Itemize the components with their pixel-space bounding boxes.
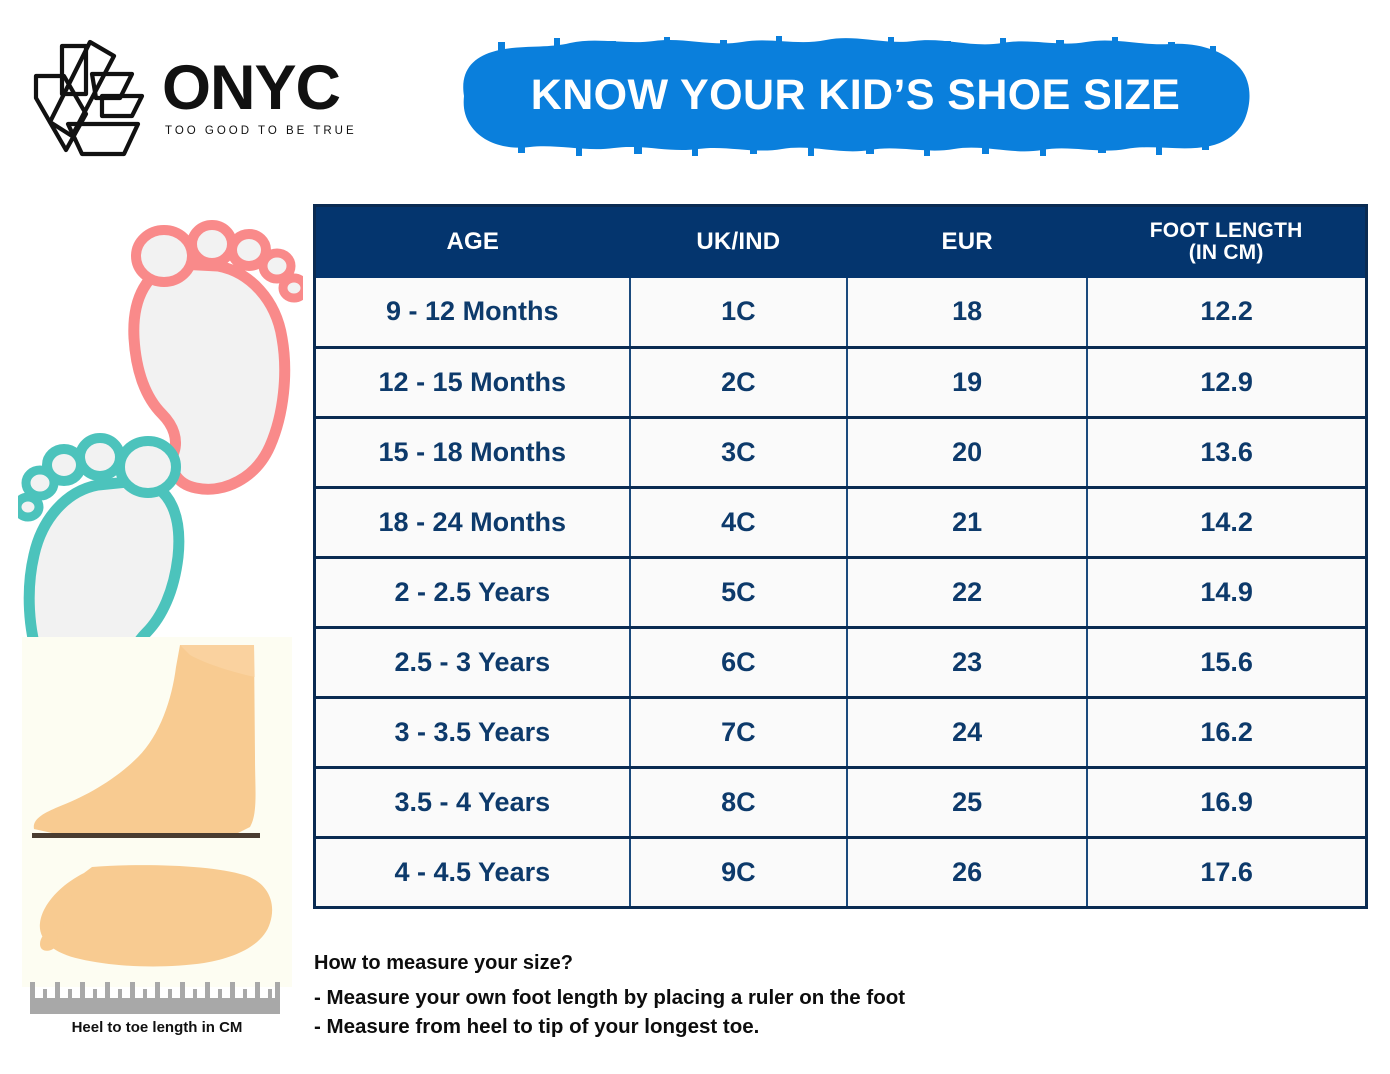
teal-footprint-icon	[18, 438, 179, 637]
cell-foot-length: 17.6	[1087, 838, 1366, 908]
table-row: 9 - 12 Months 1C 18 12.2	[315, 278, 1367, 348]
cell-eur: 19	[847, 348, 1087, 418]
cell-uk-ind: 6C	[630, 628, 847, 698]
brand-logo: ONYC TOO GOOD TO BE TRUE	[28, 28, 368, 168]
table-row: 18 - 24 Months 4C 21 14.2	[315, 488, 1367, 558]
cell-foot-length: 16.9	[1087, 768, 1366, 838]
cell-eur: 23	[847, 628, 1087, 698]
table-row: 12 - 15 Months 2C 19 12.9	[315, 348, 1367, 418]
how-to-measure-notes: How to measure your size? - Measure your…	[314, 952, 1074, 1041]
cell-eur: 26	[847, 838, 1087, 908]
foot-silhouette-top	[40, 865, 272, 966]
column-header-foot-length-line2: (IN CM)	[1093, 242, 1359, 265]
cell-eur: 20	[847, 418, 1087, 488]
cell-age: 3 - 3.5 Years	[315, 698, 630, 768]
page-title: KNOW YOUR KID’S SHOE SIZE	[458, 36, 1253, 156]
cell-age: 2.5 - 3 Years	[315, 628, 630, 698]
cell-foot-length: 14.2	[1087, 488, 1366, 558]
baby-footprints-illustration	[18, 212, 303, 637]
cell-uk-ind: 5C	[630, 558, 847, 628]
cell-age: 9 - 12 Months	[315, 278, 630, 348]
cell-age: 4 - 4.5 Years	[315, 838, 630, 908]
cell-foot-length: 16.2	[1087, 698, 1366, 768]
brand-tagline: TOO GOOD TO BE TRUE	[165, 125, 357, 137]
cell-foot-length: 15.6	[1087, 628, 1366, 698]
cell-uk-ind: 4C	[630, 488, 847, 558]
column-header-eur: EUR	[847, 206, 1087, 278]
cell-foot-length: 12.2	[1087, 278, 1366, 348]
cell-foot-length: 14.9	[1087, 558, 1366, 628]
cell-eur: 24	[847, 698, 1087, 768]
onyc-chevron-logo-icon	[28, 32, 156, 164]
cell-foot-length: 13.6	[1087, 418, 1366, 488]
ruler-baseline	[32, 833, 260, 838]
cell-uk-ind: 1C	[630, 278, 847, 348]
column-header-foot-length: FOOT LENGTH (IN CM)	[1087, 206, 1366, 278]
table-body: 9 - 12 Months 1C 18 12.2 12 - 15 Months …	[315, 278, 1367, 908]
table-row: 2 - 2.5 Years 5C 22 14.9	[315, 558, 1367, 628]
table-header: AGE UK/IND EUR FOOT LENGTH (IN CM)	[315, 206, 1367, 278]
shoe-size-table: AGE UK/IND EUR FOOT LENGTH (IN CM) 9 - 1…	[313, 204, 1368, 909]
cell-age: 12 - 15 Months	[315, 348, 630, 418]
page-title-banner: KNOW YOUR KID’S SHOE SIZE	[458, 36, 1253, 156]
column-header-foot-length-line1: FOOT LENGTH	[1093, 220, 1359, 243]
note-line-1: - Measure your own foot length by placin…	[314, 983, 1074, 1012]
cell-age: 2 - 2.5 Years	[315, 558, 630, 628]
cell-eur: 25	[847, 768, 1087, 838]
cell-uk-ind: 8C	[630, 768, 847, 838]
column-header-uk-ind: UK/IND	[630, 206, 847, 278]
column-header-age: AGE	[315, 206, 630, 278]
brand-name: ONYC	[162, 59, 357, 119]
ruler-illustration	[22, 980, 292, 1018]
cell-eur: 18	[847, 278, 1087, 348]
brand-text: ONYC TOO GOOD TO BE TRUE	[162, 59, 357, 138]
notes-title: How to measure your size?	[314, 952, 1074, 975]
cell-uk-ind: 9C	[630, 838, 847, 908]
cell-age: 15 - 18 Months	[315, 418, 630, 488]
table-row: 3.5 - 4 Years 8C 25 16.9	[315, 768, 1367, 838]
note-line-2: - Measure from heel to tip of your longe…	[314, 1012, 1074, 1041]
table-header-row: AGE UK/IND EUR FOOT LENGTH (IN CM)	[315, 206, 1367, 278]
foot-top-view-illustration	[22, 857, 292, 987]
cell-age: 3.5 - 4 Years	[315, 768, 630, 838]
foot-side-view-illustration	[22, 637, 292, 857]
cell-uk-ind: 2C	[630, 348, 847, 418]
cell-age: 18 - 24 Months	[315, 488, 630, 558]
cell-uk-ind: 3C	[630, 418, 847, 488]
table-row: 2.5 - 3 Years 6C 23 15.6	[315, 628, 1367, 698]
cell-eur: 21	[847, 488, 1087, 558]
ruler-caption: Heel to toe length in CM	[22, 1019, 292, 1036]
cell-foot-length: 12.9	[1087, 348, 1366, 418]
size-chart-page: ONYC TOO GOOD TO BE TRUE	[0, 0, 1390, 1074]
table-row: 4 - 4.5 Years 9C 26 17.6	[315, 838, 1367, 908]
cell-uk-ind: 7C	[630, 698, 847, 768]
table-row: 3 - 3.5 Years 7C 24 16.2	[315, 698, 1367, 768]
table-row: 15 - 18 Months 3C 20 13.6	[315, 418, 1367, 488]
cell-eur: 22	[847, 558, 1087, 628]
